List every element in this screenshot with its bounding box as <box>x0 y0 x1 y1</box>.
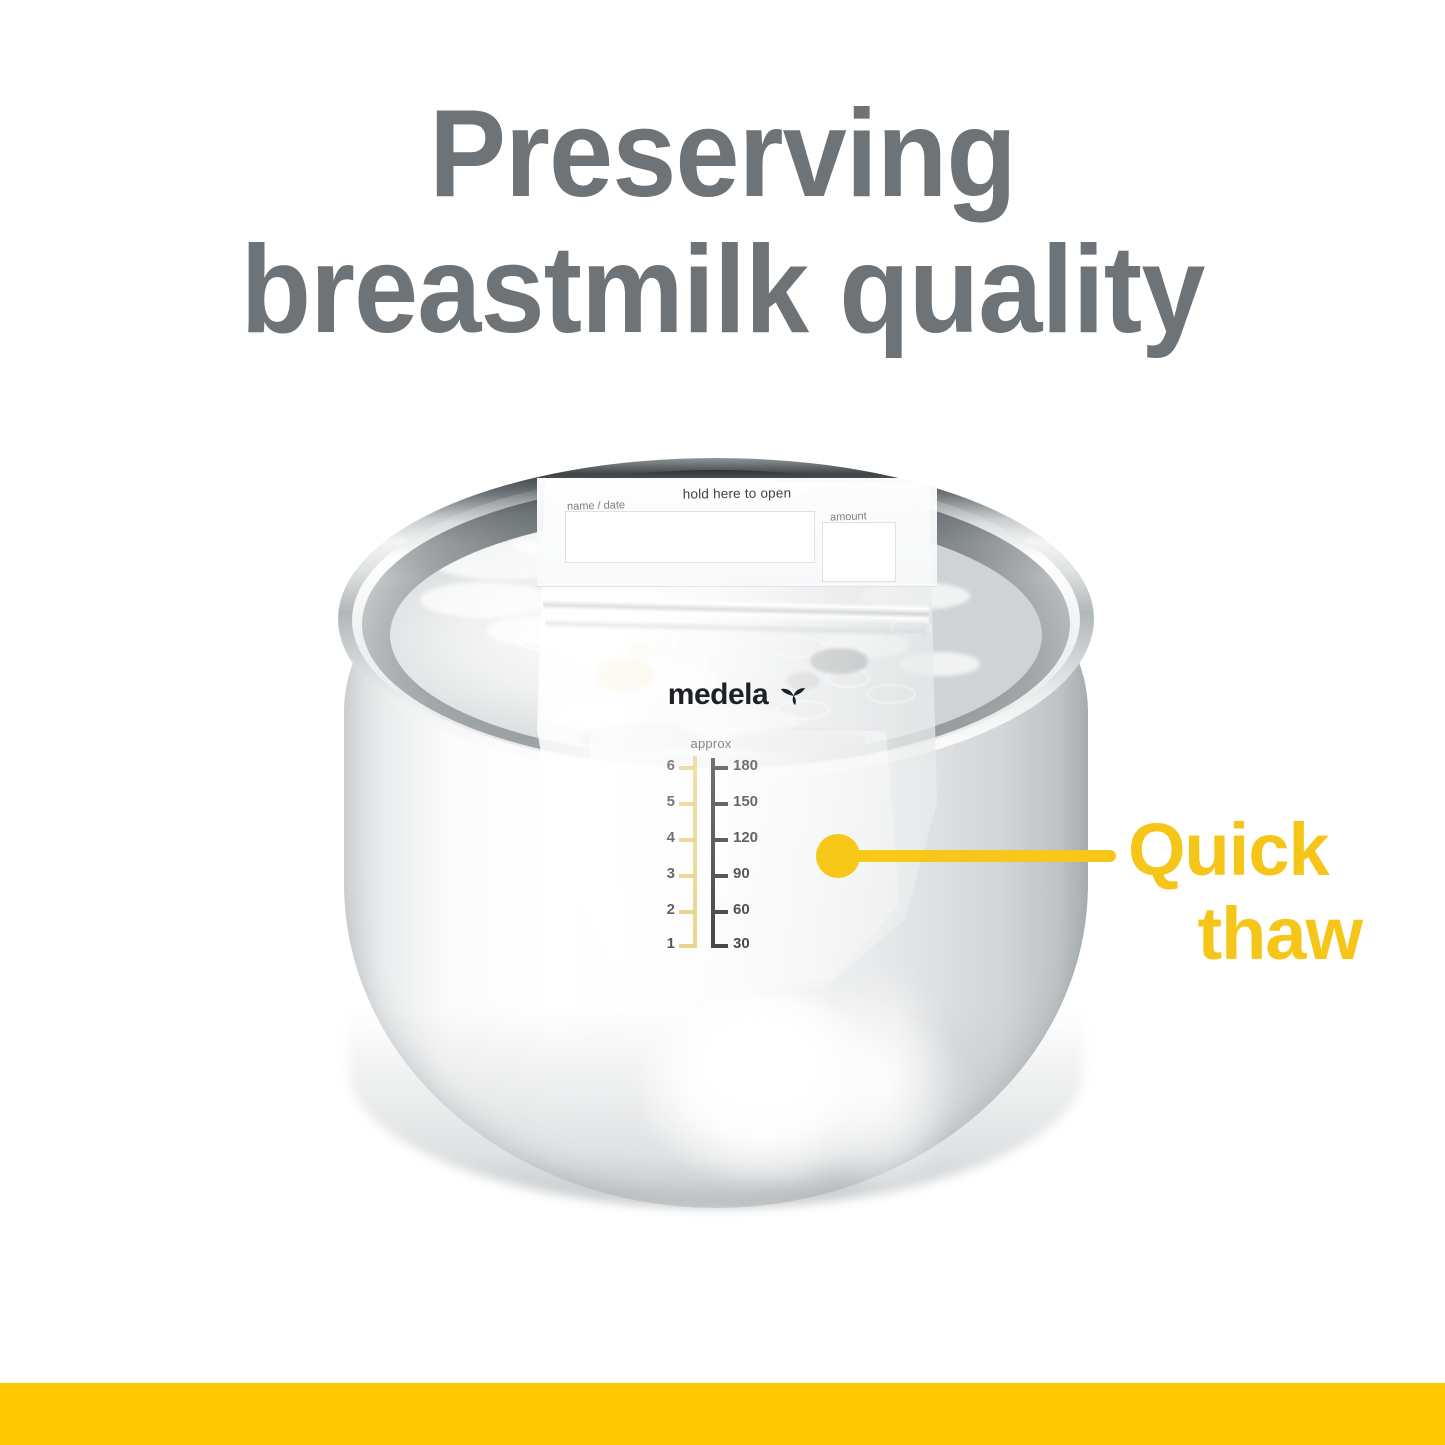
promo-image: Preserving breastmilk quality <box>0 0 1445 1445</box>
scale-tick-ml <box>711 874 728 878</box>
scale-approx-label: approx <box>651 736 771 751</box>
callout-label-line-1: Quick <box>1128 808 1329 891</box>
scale-tick-ml <box>711 766 728 770</box>
scale-spine-oz <box>693 756 697 948</box>
scale-label-oz: 6 <box>655 758 675 773</box>
scale-spine-ml <box>711 758 715 948</box>
scale-tick-oz <box>679 766 695 770</box>
medela-leaf-mark <box>780 680 806 714</box>
scale-label-ml: 180 <box>733 758 758 773</box>
bag-name-date-field <box>565 511 815 563</box>
scale-label-ml: 120 <box>733 830 758 845</box>
breastmilk-storage-bag: hold here to open name / date amount med… <box>537 478 937 1003</box>
callout-dot-icon <box>816 834 860 878</box>
scale-tick-ml <box>711 838 728 842</box>
bag-amount-label: amount <box>830 510 867 523</box>
scale-label-ml: 150 <box>733 794 758 809</box>
scale-label-oz: 3 <box>655 866 675 881</box>
callout-label-line-2: thaw <box>1128 892 1428 976</box>
callout-label: Quick thaw <box>1128 808 1428 976</box>
page-title-line-1: Preserving <box>51 86 1395 222</box>
bag-measurement-scale: approx 180 150 120 90 60 30 6 5 4 <box>633 736 833 956</box>
scale-tick-oz <box>679 874 695 878</box>
medela-logo: medela <box>537 678 937 714</box>
scale-label-ml: 30 <box>733 936 750 951</box>
scale-label-ml: 60 <box>733 902 750 917</box>
page-title: Preserving breastmilk quality <box>0 86 1445 358</box>
scale-tick-ml <box>711 802 728 806</box>
scale-tick-ml <box>711 944 728 948</box>
page-title-line-2: breastmilk quality <box>51 222 1395 358</box>
scale-tick-oz <box>679 910 695 914</box>
bag-amount-field <box>822 522 896 582</box>
bottom-accent-bar <box>0 1383 1445 1445</box>
medela-wordmark: medela <box>668 678 768 711</box>
scale-label-ml: 90 <box>733 866 750 881</box>
scale-label-oz: 1 <box>655 936 675 951</box>
scale-label-oz: 2 <box>655 902 675 917</box>
callout-leader-line <box>838 850 1116 862</box>
scale-tick-oz <box>679 802 695 806</box>
bag-name-date-label: name / date <box>567 499 625 513</box>
scale-label-oz: 5 <box>655 794 675 809</box>
scale-tick-oz <box>679 838 695 842</box>
scale-tick-oz <box>679 944 695 948</box>
scale-label-oz: 4 <box>655 830 675 845</box>
scale-tick-ml <box>711 910 728 914</box>
